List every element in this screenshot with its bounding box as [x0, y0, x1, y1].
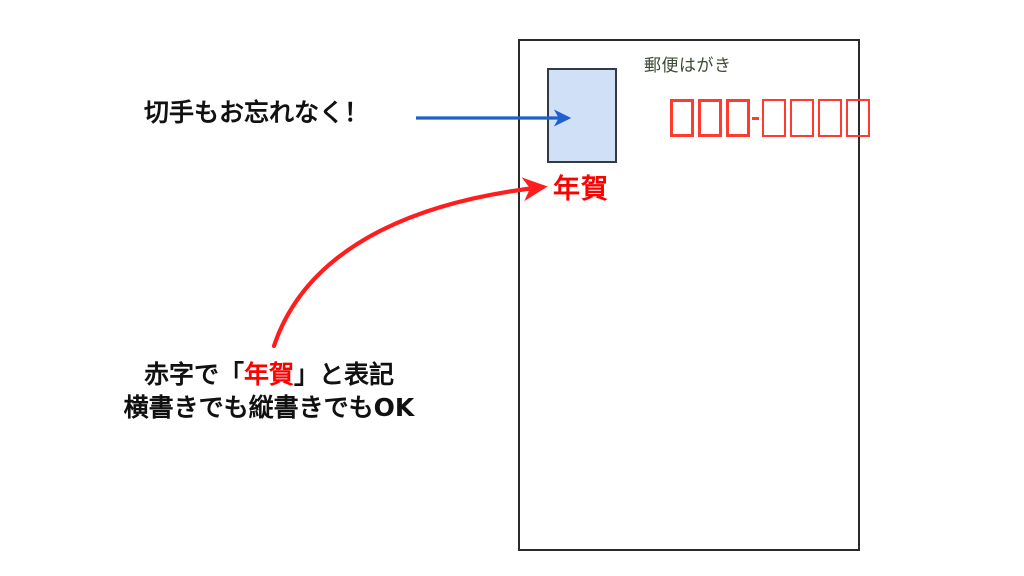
postcard-header-label: 郵便はがき: [644, 58, 732, 75]
nenga-callout-line-2: 横書きでも縦書きでもOK: [93, 391, 445, 424]
postal-code-boxes: [670, 99, 874, 137]
nenga-mark-text: 年賀: [553, 176, 609, 203]
postal-code-box-3: [726, 99, 750, 137]
nenga-callout-line-1: 赤字で「年賀」と表記: [93, 358, 445, 391]
postal-code-box-1: [670, 99, 694, 137]
postal-code-box-7: [846, 99, 870, 137]
postal-code-box-6: [818, 99, 842, 137]
arrows-layer: [0, 0, 1024, 576]
red-curved-arrow: [274, 187, 543, 346]
illustration-canvas: 郵便はがき 年賀 切手もお忘れなく！ 赤字で「年賀」と表記 横書きでも縦書きでも…: [0, 0, 1024, 576]
postal-code-separator-dash: [752, 117, 759, 120]
stamp-callout-text: 切手もお忘れなく！: [144, 100, 369, 125]
nenga-callout-line1-highlight: 年賀: [244, 360, 294, 389]
postal-code-box-2: [698, 99, 722, 137]
stamp-placeholder-box: [547, 68, 617, 163]
nenga-callout-text: 赤字で「年賀」と表記 横書きでも縦書きでもOK: [93, 358, 445, 424]
nenga-callout-line1-suffix: 」と表記: [294, 360, 394, 389]
postal-code-box-4: [762, 99, 786, 137]
postal-code-box-5: [790, 99, 814, 137]
nenga-callout-line1-prefix: 赤字で「: [144, 360, 244, 389]
